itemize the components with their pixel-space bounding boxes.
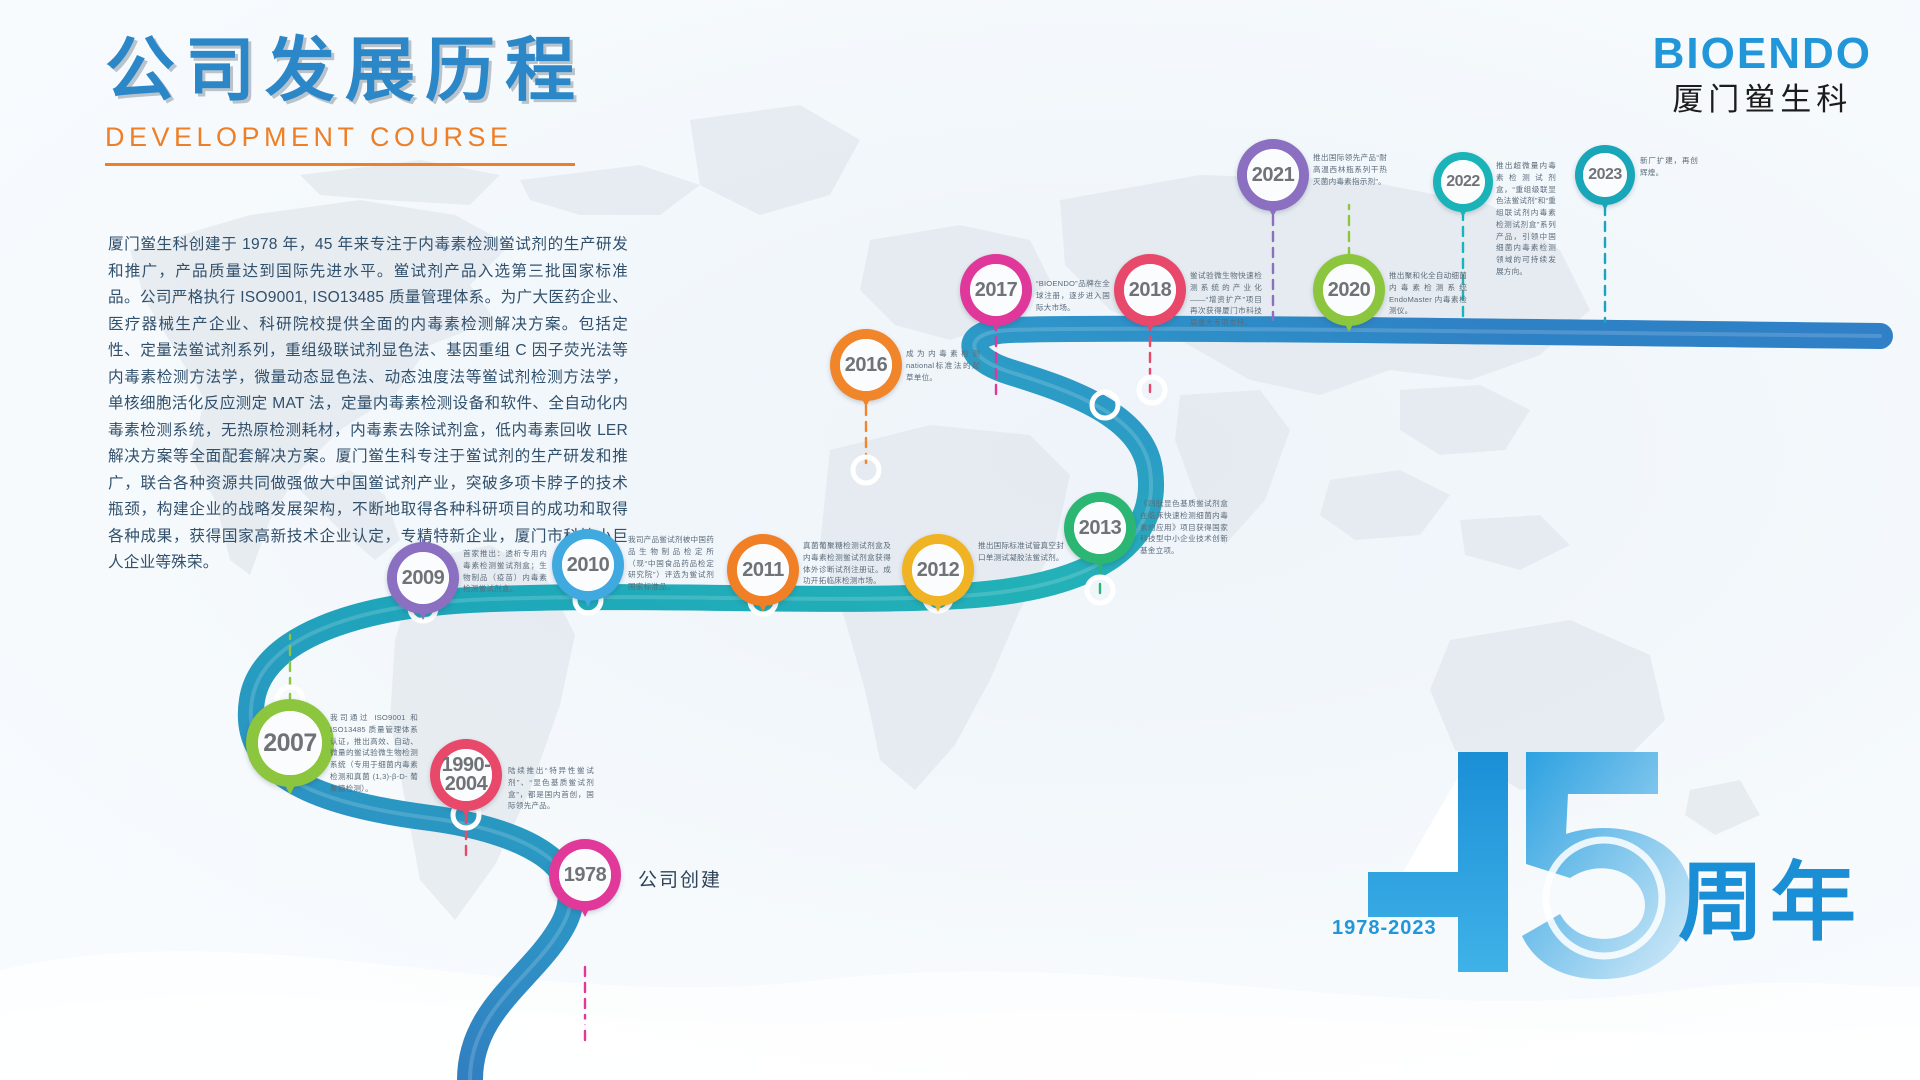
milestone-note-2010: 我司产品鲎试剂被中国药品生物制品检定所（现“中国食品药品检定研究院”）评选为鲎试… [628,534,714,593]
pin-inner: 2011 [737,544,789,596]
pin-bulb: 2020 [1313,254,1385,326]
milestone-note-1978: 公司创建 [638,866,808,895]
milestone-year: 2010 [567,555,610,575]
milestone-year: 2020 [1328,280,1371,300]
pin-inner: 1990- 2004 [440,749,492,801]
pin-inner: 2007 [258,711,322,775]
milestone-year: 2018 [1129,280,1172,300]
milestone-note-2013: 《四肽显色基质鲎试剂盒在临床快速检测细菌内毒素的应用》项目获得国家科技型中小企业… [1140,498,1228,557]
milestone-note-2012: 推出国际标准试管真空封口单测试凝胶法鲎试剂。 [978,540,1064,564]
milestone-year: 2022 [1446,174,1480,190]
pin-inner: 2017 [970,264,1022,316]
milestone-year: 2023 [1588,167,1622,183]
milestone-year: 2009 [402,568,445,588]
pin-bulb: 2023 [1575,145,1635,205]
pin-inner: 2013 [1074,502,1126,554]
milestone-note-2018: 鲎试验微生物快速检测系统的产业化——“增资扩产”项目再次获得厦门市科技局重大专项… [1190,270,1262,329]
pin-inner: 1978 [559,849,611,901]
milestone-year: 2017 [975,280,1018,300]
milestone-year: 2021 [1252,165,1295,185]
milestone-year: 2016 [845,355,888,375]
pin-bulb: 2012 [902,534,974,606]
milestone-note-2007: 我司通过 ISO9001 和 ISO13485 质量管理体系认证，推出高效、自动… [330,712,418,794]
pin-bulb: 2009 [387,542,459,614]
pin-inner: 2009 [397,552,449,604]
infographic-canvas: 公司发展历程 DEVELOPMENT COURSE 厦门鲎生科创建于 1978 … [0,0,1920,1080]
pin-bulb: 2016 [830,329,902,401]
pin-inner: 2022 [1441,160,1485,204]
anniversary-unit: 周年 [1678,860,1862,946]
milestone-year: 1990- 2004 [442,756,491,794]
milestone-note-2011: 真菌葡聚糖检测试剂盒及内毒素检测鲎试剂盒获得体外诊断试剂注册证。成功开拓临床检测… [803,540,891,587]
pin-bulb: 2017 [960,254,1032,326]
pin-bulb: 2011 [727,534,799,606]
milestone-year: 1978 [564,865,607,885]
pin-bulb: 2018 [1114,254,1186,326]
pin-bulb: 2007 [246,699,334,787]
anniversary-badge: 1978-2023 周年 [1308,722,1868,1002]
milestone-note-2020: 推出聚和化全自动细菌内毒素检测系统 EndoMaster 内毒素检测仪。 [1389,270,1467,317]
milestone-note-2017: “BIOENDO”品牌在全球注册，逐步进入国际大市场。 [1036,278,1110,313]
milestone-note-2009: 首家推出：透析专用内毒素检测鲎试剂盒；生物制品（疫苗）内毒素检测鲎试剂盒。 [463,548,547,595]
milestone-year: 2007 [263,731,317,756]
pin-inner: 2012 [912,544,964,596]
milestone-note-2023: 新厂扩建，再创辉煌。 [1640,155,1698,179]
pin-inner: 2023 [1583,153,1627,197]
pin-bulb: 2013 [1064,492,1136,564]
milestone-year: 2012 [917,560,960,580]
pin-inner: 2021 [1247,149,1299,201]
pin-inner: 2020 [1323,264,1375,316]
pin-bulb: 2022 [1433,152,1493,212]
milestone-year: 2013 [1079,518,1122,538]
pin-bulb: 2021 [1237,139,1309,211]
pin-bulb: 1990- 2004 [430,739,502,811]
milestone-year: 2011 [742,560,783,580]
pin-inner: 2016 [840,339,892,391]
pin-inner: 2018 [1124,264,1176,316]
milestone-note-2016: 成为内毒素检测national标准法的起草单位。 [906,348,980,383]
milestone-note-2021: 推出国际领先产品“耐高温西林瓶系列干热灭菌内毒素指示剂”。 [1313,152,1387,187]
milestone-note-2022: 推出超微量内毒素检测试剂盒，“重组级联显色法鲎试剂”和“重组联试剂内毒素检测试剂… [1496,160,1556,278]
milestone-note-1990-2004: 陆续推出“特异性鲎试剂”、“显色基质鲎试剂盒”，都是国内首创，国际领先产品。 [508,765,594,812]
anniversary-year-range: 1978-2023 [1332,917,1437,940]
pin-bulb: 1978 [549,839,621,911]
pin-bulb: 2010 [552,529,624,601]
pin-inner: 2010 [562,539,614,591]
